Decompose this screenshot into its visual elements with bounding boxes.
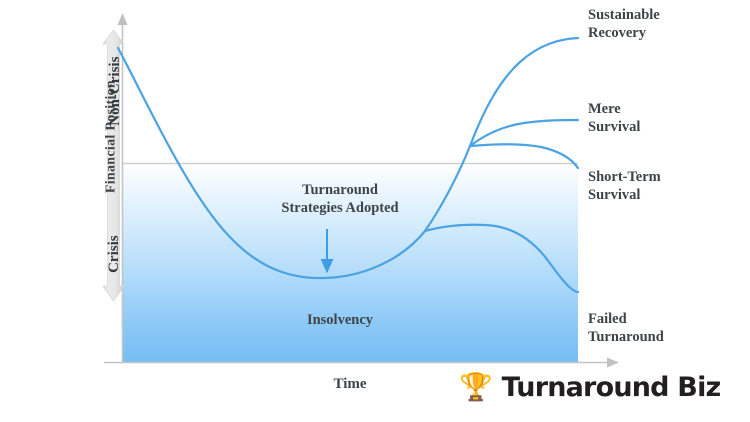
band-label-non-crisis: Non-Crisis — [106, 31, 124, 151]
brand-name: Turnaround Biz — [502, 372, 721, 403]
outcome-label-short-term-survival: Short-Term Survival — [588, 169, 661, 204]
outcome-label-mere-survival: Mere Survival — [588, 101, 640, 136]
brand-logo: 🏆 Turnaround Biz — [459, 372, 720, 403]
curve-mere-survival — [470, 120, 578, 146]
band-label-crisis: Crisis — [105, 204, 123, 304]
x-axis-title: Time — [300, 375, 400, 393]
curve-sustainable-recovery — [470, 38, 578, 146]
outcome-label-sustainable-recovery: Sustainable Recovery — [588, 7, 660, 42]
outcome-label-failed-turnaround: Failed Turnaround — [588, 311, 664, 346]
figure-canvas: Financial Position Time Non-Crisis Crisi… — [0, 0, 750, 422]
trophy-icon: 🏆 — [459, 374, 493, 401]
annotation-turnaround-strategies: Turnaround Strategies Adopted — [240, 182, 440, 217]
annotation-insolvency: Insolvency — [245, 312, 435, 330]
